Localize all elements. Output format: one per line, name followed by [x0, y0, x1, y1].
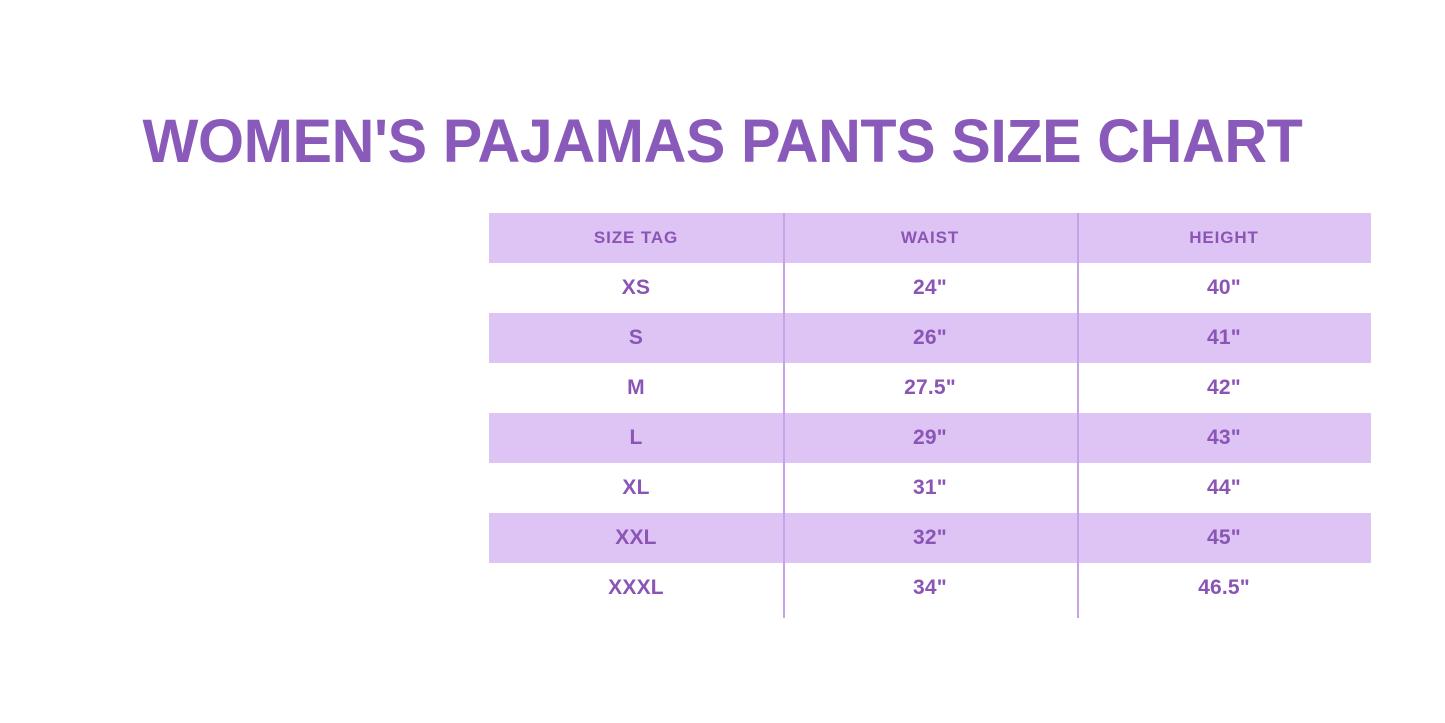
size-chart-page: WOMEN'S PAJAMAS PANTS SIZE CHART SIZE TA… — [0, 0, 1445, 723]
cell-height: 42" — [1077, 363, 1371, 413]
column-header-size-tag: SIZE TAG — [489, 213, 783, 263]
table-row: XXL 32" 45" — [489, 513, 1371, 563]
cell-waist: 32" — [783, 513, 1077, 563]
cell-height: 41" — [1077, 313, 1371, 363]
table-row: S 26" 41" — [489, 313, 1371, 363]
cell-size-tag: XXXL — [489, 563, 783, 613]
size-chart-table: SIZE TAG WAIST HEIGHT XS 24" 40" S 26" 4… — [489, 213, 1371, 613]
cell-waist: 26" — [783, 313, 1077, 363]
column-divider-1 — [783, 213, 785, 618]
cell-waist: 34" — [783, 563, 1077, 613]
page-title: WOMEN'S PAJAMAS PANTS SIZE CHART — [22, 109, 1424, 173]
cell-waist: 31" — [783, 463, 1077, 513]
cell-size-tag: XXL — [489, 513, 783, 563]
cell-size-tag: M — [489, 363, 783, 413]
cell-size-tag: XL — [489, 463, 783, 513]
table-header-row: SIZE TAG WAIST HEIGHT — [489, 213, 1371, 263]
cell-height: 40" — [1077, 263, 1371, 313]
table-row: XL 31" 44" — [489, 463, 1371, 513]
cell-waist: 29" — [783, 413, 1077, 463]
table-row: XS 24" 40" — [489, 263, 1371, 313]
cell-waist: 24" — [783, 263, 1077, 313]
size-chart-table-wrapper: SIZE TAG WAIST HEIGHT XS 24" 40" S 26" 4… — [489, 213, 1371, 613]
table-row: L 29" 43" — [489, 413, 1371, 463]
column-header-waist: WAIST — [783, 213, 1077, 263]
cell-size-tag: L — [489, 413, 783, 463]
table-row: XXXL 34" 46.5" — [489, 563, 1371, 613]
cell-size-tag: S — [489, 313, 783, 363]
table-header: SIZE TAG WAIST HEIGHT — [489, 213, 1371, 263]
table-body: XS 24" 40" S 26" 41" M 27.5" 42" L 29" — [489, 263, 1371, 613]
table-row: M 27.5" 42" — [489, 363, 1371, 413]
cell-height: 44" — [1077, 463, 1371, 513]
column-header-height: HEIGHT — [1077, 213, 1371, 263]
cell-size-tag: XS — [489, 263, 783, 313]
cell-height: 45" — [1077, 513, 1371, 563]
cell-height: 46.5" — [1077, 563, 1371, 613]
column-divider-2 — [1077, 213, 1079, 618]
cell-waist: 27.5" — [783, 363, 1077, 413]
cell-height: 43" — [1077, 413, 1371, 463]
